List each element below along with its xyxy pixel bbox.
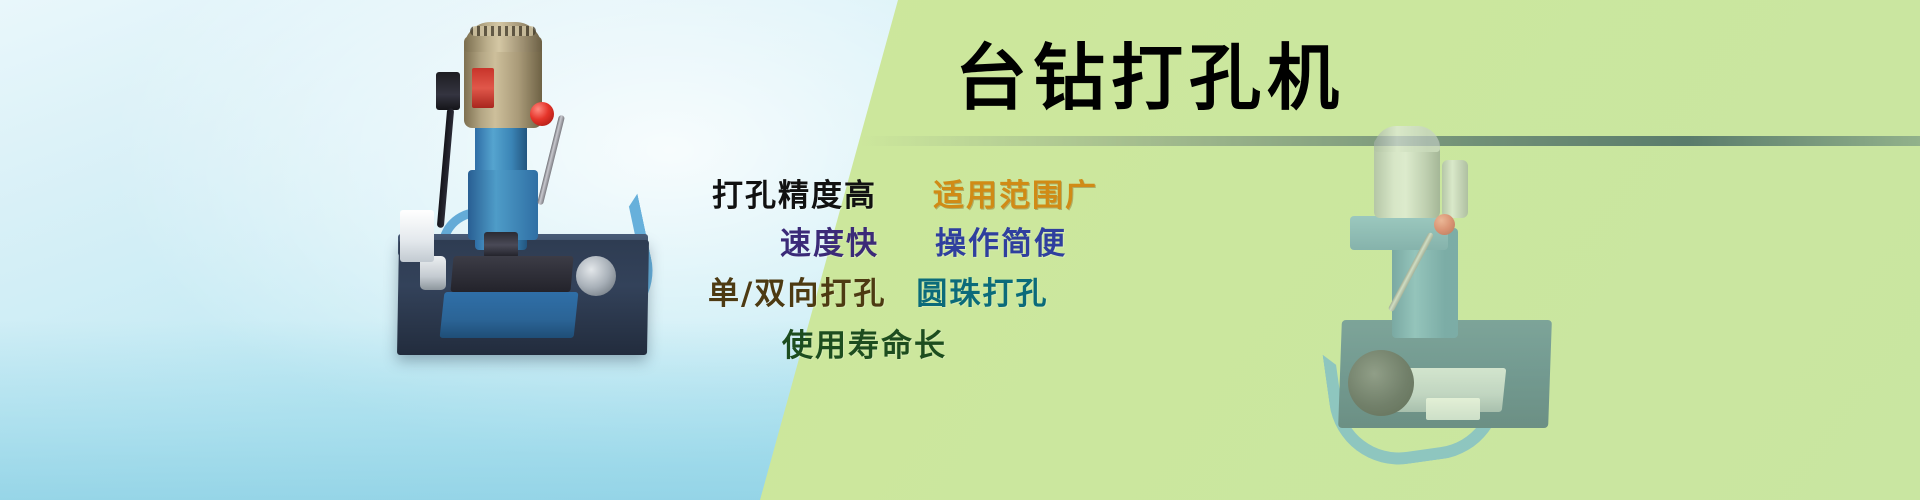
machine-motor-cap xyxy=(1374,126,1440,152)
left-machine-image xyxy=(380,10,660,380)
lever-red-knob xyxy=(530,102,554,126)
product-banner: 台钻打孔机 打孔精度高 适用范围广 速度快 操作简便 单/双向打孔 圆珠打孔 使… xyxy=(0,0,1920,500)
feature-row-2: 速度快 操作简便 xyxy=(700,218,1440,268)
lever-red-knob xyxy=(1434,214,1455,235)
machine-control-box xyxy=(400,210,434,262)
feature-item-1: 适用范围广 xyxy=(933,170,1098,215)
feature-item-6: 使用寿命长 xyxy=(782,320,947,365)
machine-sticker xyxy=(1426,398,1480,420)
feature-item-5: 圆珠打孔 xyxy=(916,268,1048,313)
feature-item-0: 打孔精度高 xyxy=(712,170,877,215)
feature-item-4: 单/双向打孔 xyxy=(708,268,886,313)
feature-row-3: 单/双向打孔 圆珠打孔 xyxy=(700,268,1440,320)
feature-item-3: 操作简便 xyxy=(935,218,1067,263)
feature-item-2: 速度快 xyxy=(780,218,879,263)
motor-vent-icon xyxy=(470,26,536,36)
machine-vise xyxy=(450,256,573,292)
machine-capacitor xyxy=(1442,160,1468,218)
machine-work-plate xyxy=(440,292,579,338)
machine-gear xyxy=(1348,350,1414,416)
feature-row-1: 打孔精度高 适用范围广 xyxy=(700,170,1440,218)
machine-switch-box xyxy=(436,72,460,110)
handwheel-icon xyxy=(576,256,616,296)
right-machine-image xyxy=(1330,110,1560,440)
machine-feed-lever xyxy=(537,115,565,206)
feature-list: 打孔精度高 适用范围广 速度快 操作简便 单/双向打孔 圆珠打孔 使用寿命长 xyxy=(700,170,1440,370)
drill-chuck xyxy=(484,232,518,258)
banner-title: 台钻打孔机 xyxy=(955,40,1345,116)
machine-head-body xyxy=(468,170,538,240)
motor-red-label xyxy=(472,68,494,108)
power-cord-icon xyxy=(437,108,454,228)
